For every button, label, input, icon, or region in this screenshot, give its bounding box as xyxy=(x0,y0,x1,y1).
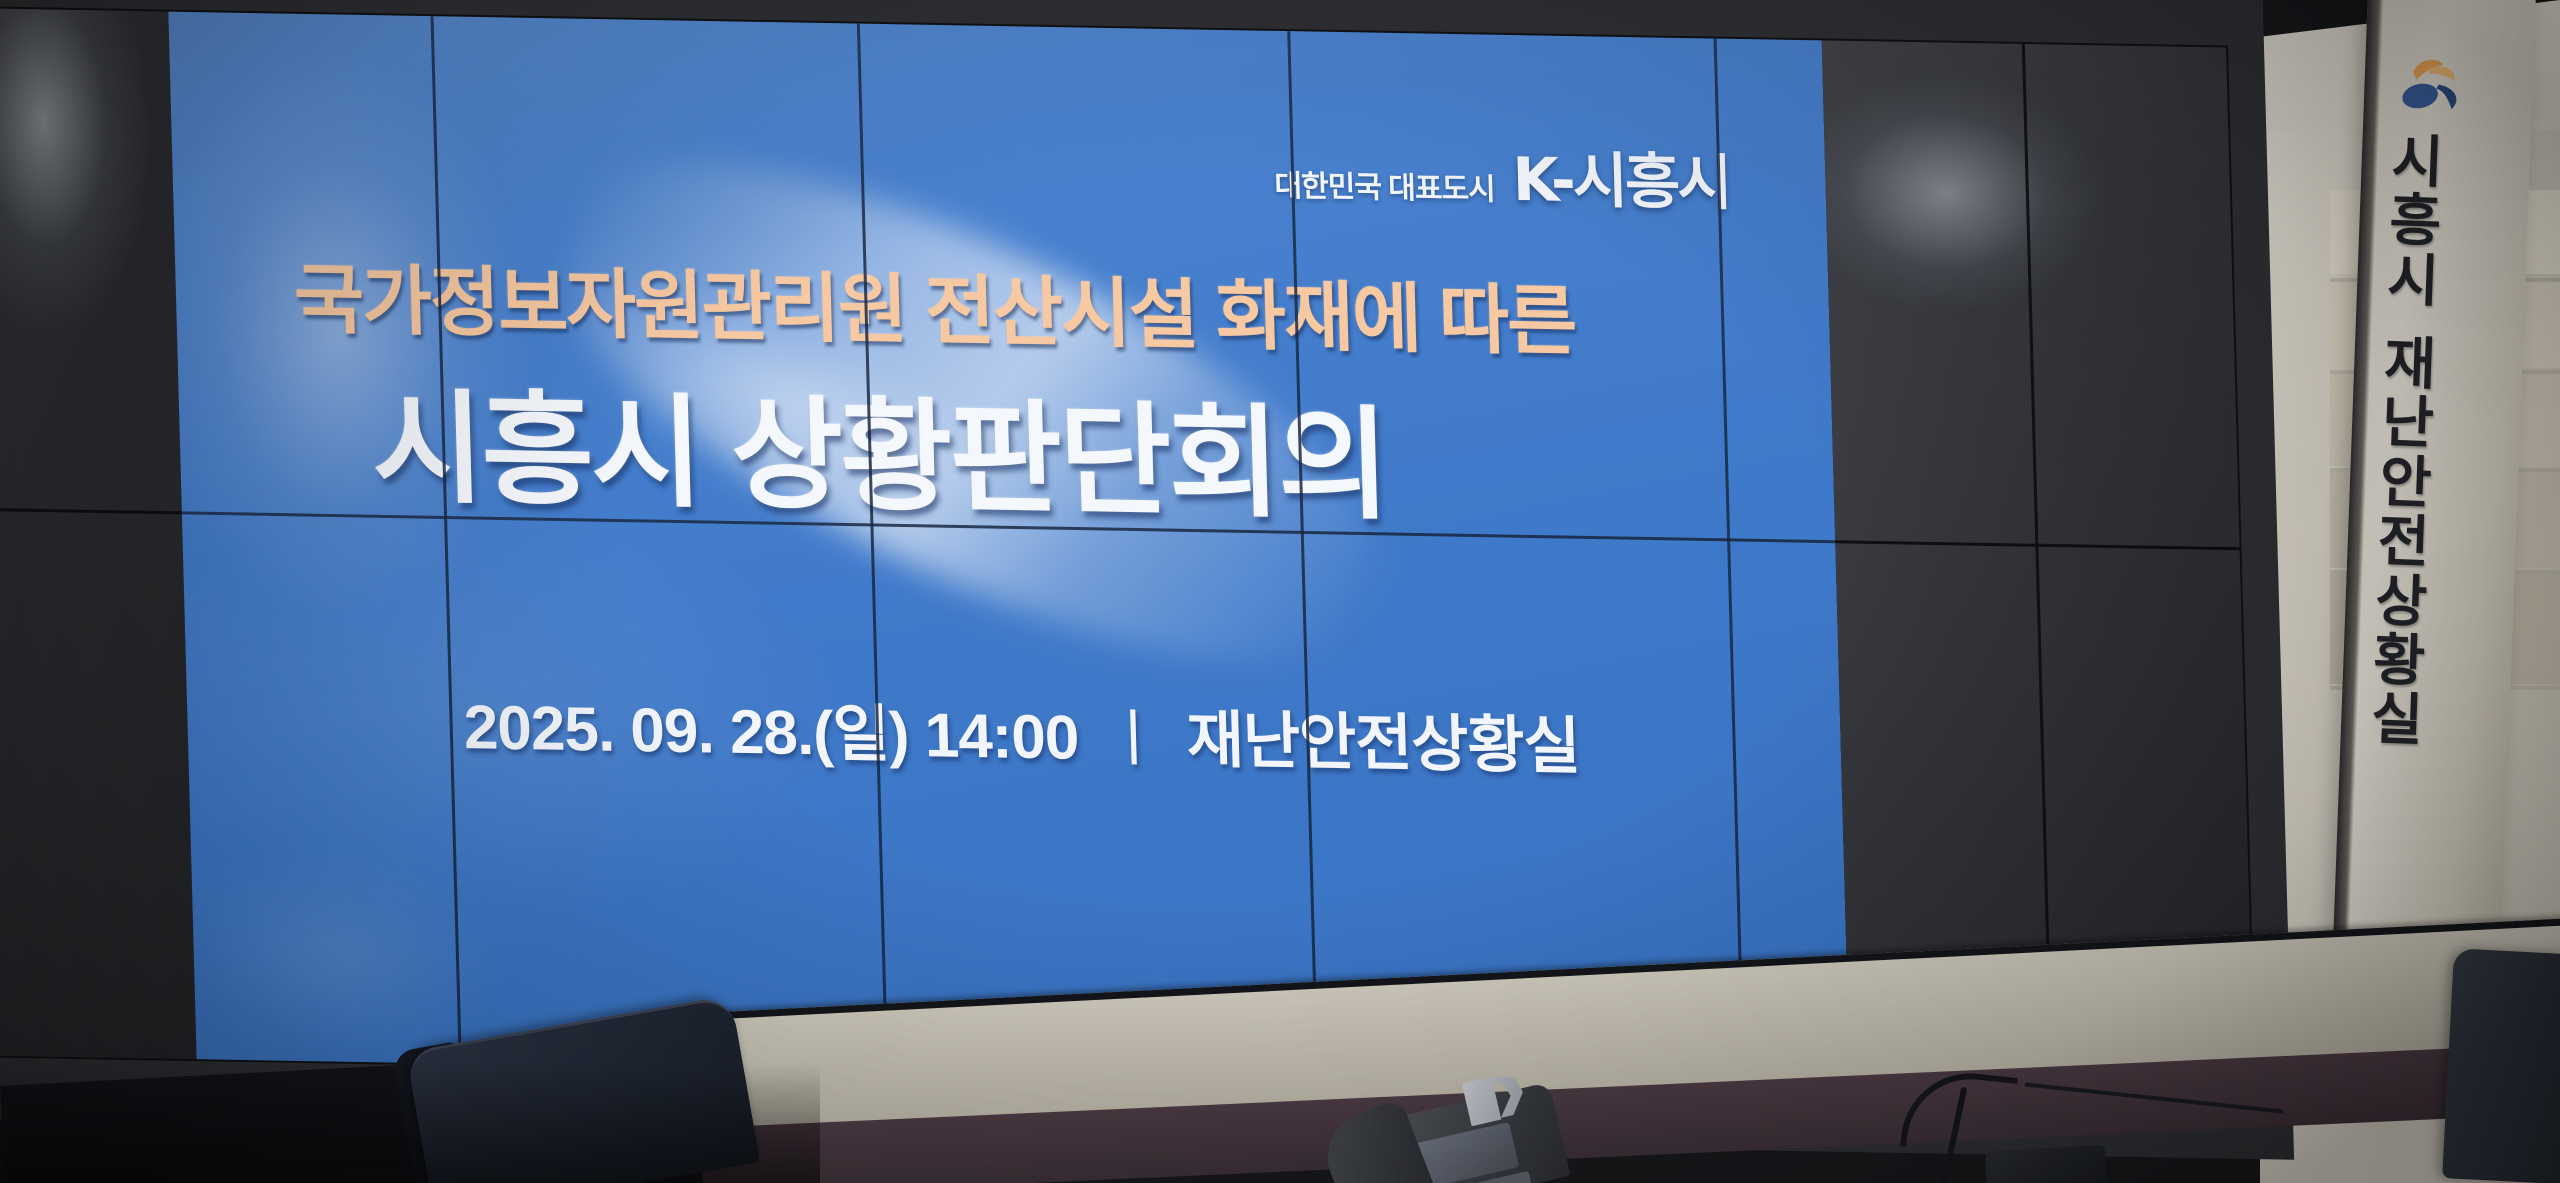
pillar-char: 시 xyxy=(2386,250,2440,311)
brand-wordmark: K-시흥시 xyxy=(1511,131,1730,222)
pillar-char: 안 xyxy=(2379,452,2433,513)
pillar-char: 전 xyxy=(2377,511,2431,572)
pillar-char: 난 xyxy=(2381,392,2435,453)
situation-room-photo: 대한민국 대표도시 K-시흥시 국가정보자원관리원 전산시설 화재에 따른 시흥… xyxy=(0,0,2560,1183)
floor-shadow xyxy=(0,1063,820,1183)
slide-brand-lockup: 대한민국 대표도시 K-시흥시 xyxy=(1273,127,1731,222)
pillar-char: 흥 xyxy=(2388,190,2442,251)
unlit-panel-left xyxy=(0,8,197,1059)
shiheung-city-logo xyxy=(2397,53,2471,118)
pillar-char: 황 xyxy=(2372,630,2426,691)
brand-tagline: 대한민국 대표도시 xyxy=(1274,161,1496,209)
pillar-char: 시 xyxy=(2391,131,2445,192)
pillar-char: 상 xyxy=(2375,570,2429,631)
slide-meta-datetime: 2025. 09. 28.(일) 14:00 xyxy=(463,693,1080,773)
slide-meta-location: 재난안전상황실 xyxy=(1186,706,1580,782)
pillar-sign-text: 시 흥 시 재 난 안 전 상 황 실 xyxy=(2370,131,2503,752)
conference-chair-right xyxy=(2442,948,2560,1183)
microphone-base xyxy=(1985,1145,2107,1183)
slide-meta-separator: ㅣ xyxy=(1094,704,1172,774)
pillar-char: 실 xyxy=(2370,689,2424,750)
presentation-slide: 대한민국 대표도시 K-시흥시 국가정보자원관리원 전산시설 화재에 따른 시흥… xyxy=(168,12,1850,1088)
slide-meta: 2025. 09. 28.(일) 14:00 ㅣ 재난안전상황실 xyxy=(462,676,1806,789)
pillar-char: 재 xyxy=(2383,333,2437,394)
